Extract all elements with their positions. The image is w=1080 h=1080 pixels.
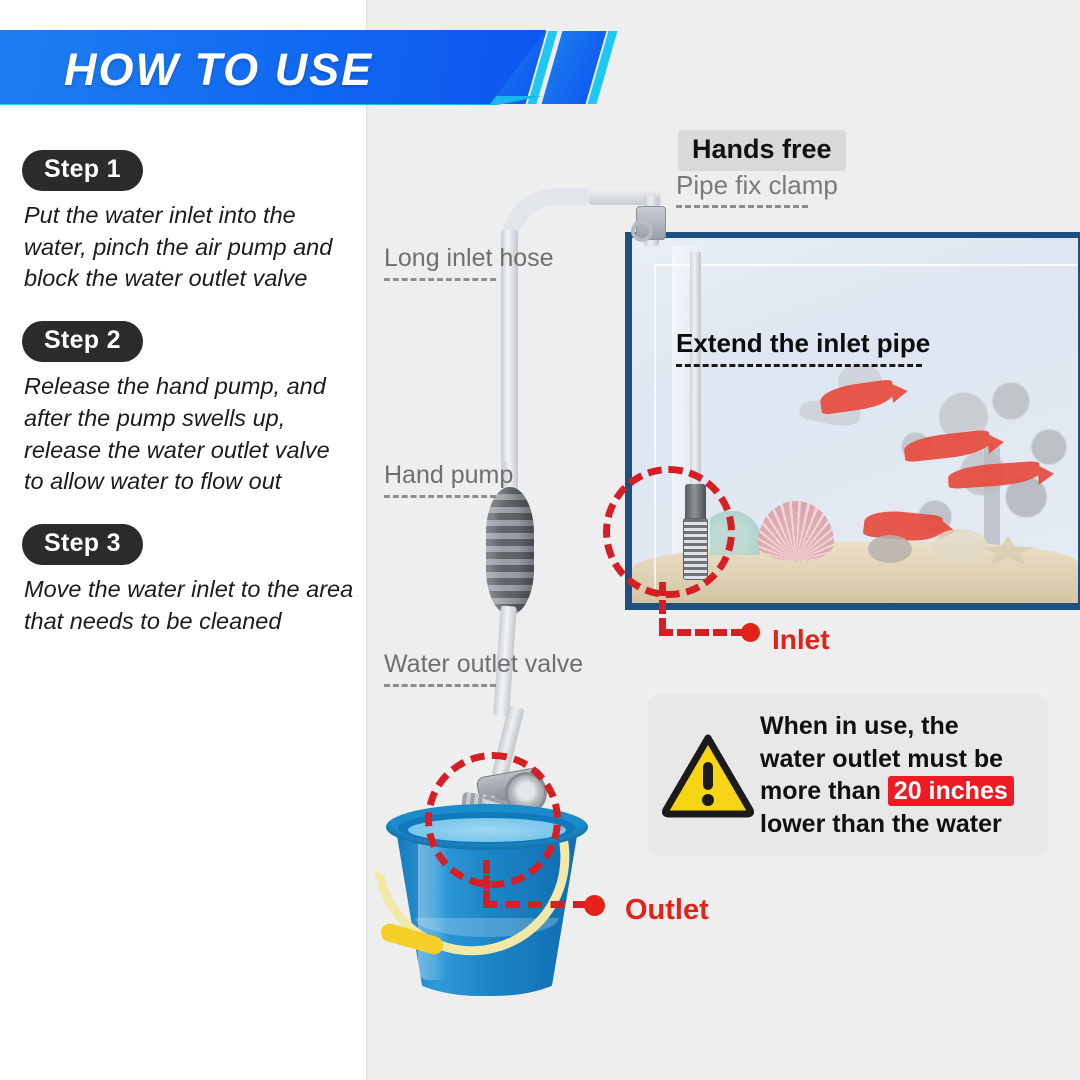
inlet-leader-horizontal bbox=[659, 629, 745, 636]
fish-tail bbox=[987, 432, 1005, 454]
tank-inner-edge-line bbox=[654, 264, 1080, 266]
label-hand-pump-text: Hand pump bbox=[384, 461, 513, 489]
hand-pump-bulb bbox=[486, 487, 534, 615]
label-long-inlet-hose-underline bbox=[384, 278, 496, 281]
warning-highlight-measurement: 20 inches bbox=[888, 776, 1014, 806]
warning-line-2: water outlet must be bbox=[760, 743, 1014, 776]
infographic-canvas: HOW TO USE Step 1 Put the water inlet in… bbox=[0, 0, 1080, 1080]
label-extend-inlet-pipe-text: Extend the inlet pipe bbox=[676, 328, 930, 358]
warning-line-3: more than 20 inches bbox=[760, 775, 1014, 808]
warning-box: When in use, the water outlet must be mo… bbox=[648, 694, 1048, 856]
seashell-ridges bbox=[758, 501, 834, 561]
seashell bbox=[758, 501, 834, 561]
rock bbox=[932, 529, 988, 563]
step-badge-3: Step 3 bbox=[22, 524, 143, 565]
page-title: HOW TO USE bbox=[64, 44, 373, 96]
warning-triangle-icon bbox=[662, 732, 754, 818]
label-water-outlet-valve-underline bbox=[384, 684, 496, 687]
outlet-marker-dot bbox=[584, 895, 605, 916]
label-hand-pump-underline bbox=[384, 495, 496, 498]
warning-line-3-prefix: more than bbox=[760, 777, 888, 805]
step-item-2: Step 2 Release the hand pump, and after … bbox=[22, 321, 362, 498]
header-banner: HOW TO USE bbox=[0, 30, 606, 108]
warning-line-4: lower than the water bbox=[760, 808, 1014, 841]
clamp-ring-icon bbox=[631, 220, 653, 242]
label-water-outlet-valve-text: Water outlet valve bbox=[384, 650, 583, 678]
outlet-highlight-circle bbox=[425, 752, 561, 888]
step-text-3: Move the water inlet to the area that ne… bbox=[24, 574, 354, 637]
fish-tail bbox=[1037, 464, 1054, 485]
inlet-pipe bbox=[690, 252, 701, 488]
label-extend-inlet-pipe-underline bbox=[676, 364, 922, 367]
inlet-leader-vertical bbox=[659, 582, 666, 632]
label-pipe-fix-clamp-text: Pipe fix clamp bbox=[676, 170, 838, 200]
step-badge-1: Step 1 bbox=[22, 150, 143, 191]
rock bbox=[868, 535, 912, 563]
outlet-leader-horizontal bbox=[483, 901, 587, 908]
step-text-1: Put the water inlet into the water, pinc… bbox=[24, 200, 354, 295]
step-item-3: Step 3 Move the water inlet to the area … bbox=[22, 524, 362, 637]
label-water-outlet-valve: Water outlet valve bbox=[384, 650, 583, 687]
label-extend-inlet-pipe: Extend the inlet pipe bbox=[676, 328, 930, 367]
fish-tail bbox=[890, 381, 909, 403]
inlet-highlight-circle bbox=[603, 466, 735, 598]
inlet-callout-label: Inlet bbox=[772, 624, 830, 656]
label-long-inlet-hose-text: Long inlet hose bbox=[384, 244, 554, 272]
panel-divider bbox=[366, 0, 367, 1080]
steps-list: Step 1 Put the water inlet into the wate… bbox=[22, 150, 362, 663]
label-pipe-fix-clamp: Pipe fix clamp bbox=[676, 170, 838, 208]
outlet-leader-vertical bbox=[483, 860, 490, 904]
outlet-callout-label: Outlet bbox=[625, 894, 709, 927]
warning-line-1: When in use, the bbox=[760, 710, 1014, 743]
step-item-1: Step 1 Put the water inlet into the wate… bbox=[22, 150, 362, 295]
step-badge-2: Step 2 bbox=[22, 321, 143, 362]
warning-text: When in use, the water outlet must be mo… bbox=[760, 710, 1014, 840]
step-text-2: Release the hand pump, and after the pum… bbox=[24, 371, 354, 498]
label-hand-pump: Hand pump bbox=[384, 461, 513, 498]
label-pipe-fix-clamp-underline bbox=[676, 205, 808, 208]
label-long-inlet-hose: Long inlet hose bbox=[384, 244, 554, 281]
inlet-marker-dot bbox=[741, 623, 760, 642]
label-hands-free: Hands free bbox=[678, 130, 846, 171]
